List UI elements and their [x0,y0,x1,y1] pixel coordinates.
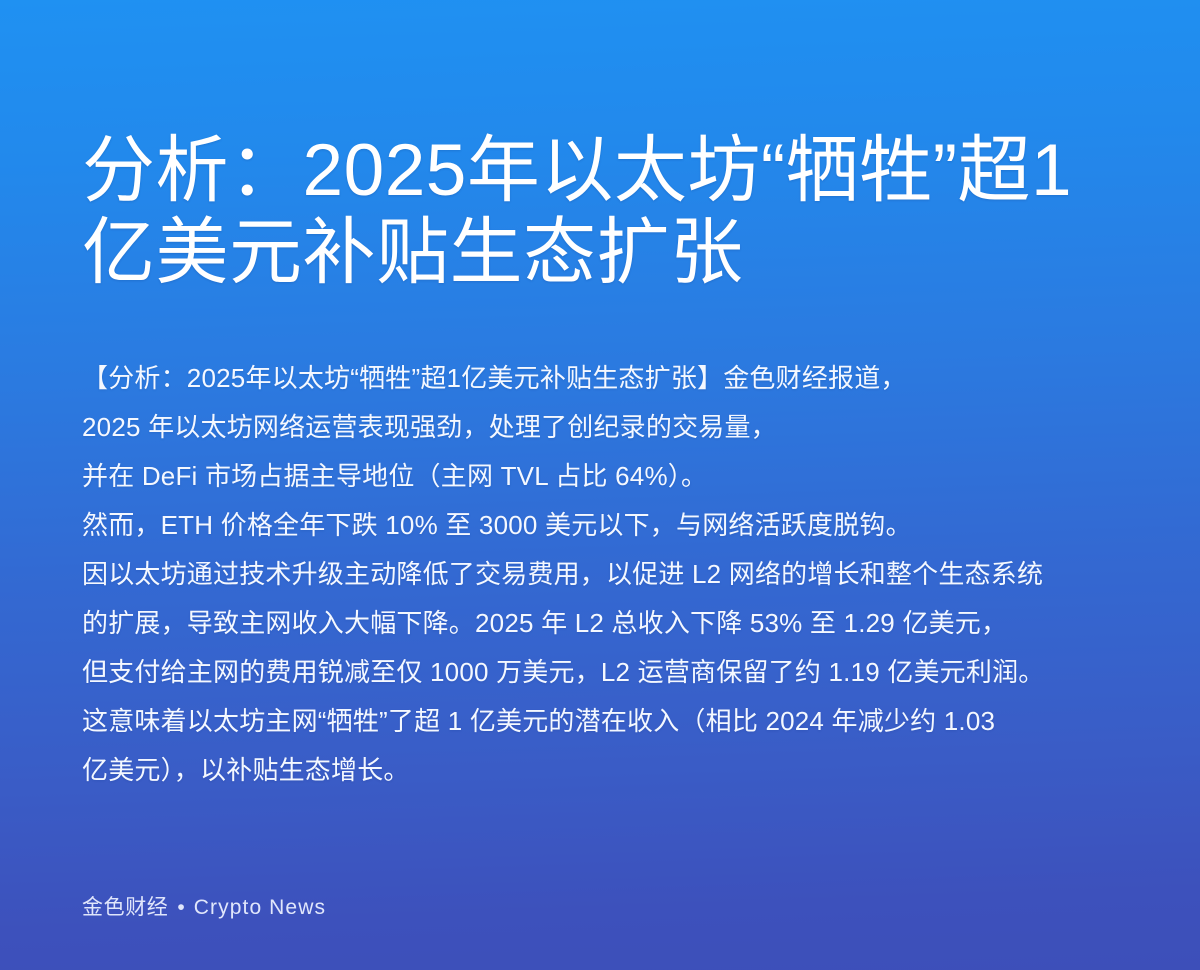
news-card: 分析：2025年以太坊“牺牲”超1亿美元补贴生态扩张 【分析：2025年以太坊“… [0,0,1200,970]
body-line: 然而，ETH 价格全年下跌 10% 至 3000 美元以下，与网络活跃度脱钩。 [82,501,1118,550]
body-line: 【分析：2025年以太坊“牺牲”超1亿美元补贴生态扩张】金色财经报道， [82,354,1118,403]
bullet-separator-icon: • [177,896,184,920]
footer-source-label: Crypto News [194,894,326,922]
body-line: 但支付给主网的费用锐减至仅 1000 万美元，L2 运营商保留了约 1.19 亿… [82,648,1118,697]
card-footer: 金色财经 • Crypto News [82,894,1118,970]
footer-brand-label: 金色财经 [82,894,168,922]
body-line: 亿美元），以补贴生态增长。 [82,746,1118,795]
body-line: 因以太坊通过技术升级主动降低了交易费用，以促进 L2 网络的增长和整个生态系统 [82,550,1118,599]
body-line: 的扩展，导致主网收入大幅下降。2025 年 L2 总收入下降 53% 至 1.2… [82,599,1118,648]
body-line: 这意味着以太坊主网“牺牲”了超 1 亿美元的潜在收入（相比 2024 年减少约 … [82,697,1118,746]
body-line: 2025 年以太坊网络运营表现强劲，处理了创纪录的交易量， [82,403,1118,452]
body-line: 并在 DeFi 市场占据主导地位（主网 TVL 占比 64%）。 [82,452,1118,501]
page-title: 分析：2025年以太坊“牺牲”超1亿美元补贴生态扩张 [82,0,1117,294]
article-body: 【分析：2025年以太坊“牺牲”超1亿美元补贴生态扩张】金色财经报道， 2025… [82,294,1118,795]
